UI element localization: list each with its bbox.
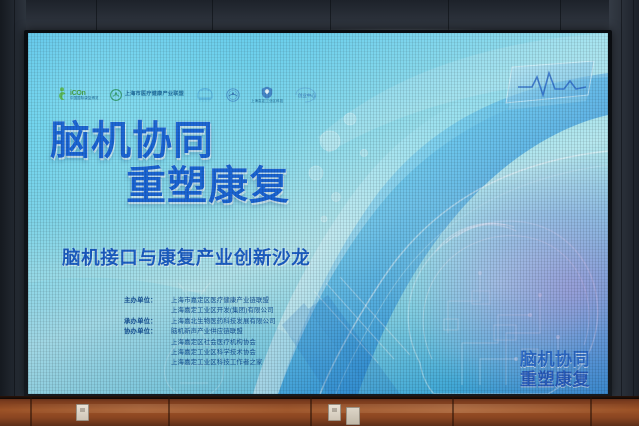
credit-value: 上海嘉定区社会医疗机构协会 <box>171 338 263 348</box>
wood-paneling <box>0 396 639 426</box>
right-wall <box>609 0 639 402</box>
watermark-line-1: 脑机协同 <box>520 351 590 368</box>
banner-subtitle: 脑机接口与康复产业创新沙龙 <box>62 244 310 270</box>
organizer-credits: 主办单位： 上海市嘉定区医疗健康产业链联盟 上海嘉定工业区开发(集团)有限公司 … <box>124 296 276 369</box>
brain-head-logo <box>195 87 215 103</box>
logo-item <box>226 88 240 102</box>
logo-text: 上海嘉定工业区科技 <box>251 100 283 104</box>
title-line-1: 脑机协同 <box>50 121 370 161</box>
credit-value: 上海嘉北生物医药科技发展有限公司 <box>171 317 276 327</box>
wall-plate <box>328 404 341 421</box>
logo-item <box>195 87 215 103</box>
banner-title: 脑机协同 重塑康复 <box>50 121 370 206</box>
wall-plate <box>346 407 360 425</box>
credit-value: 脑机新声产业供应链联盟 <box>171 327 263 337</box>
watermark-line-2: 重塑康复 <box>520 371 590 388</box>
credit-key: 协办单位： <box>124 327 166 369</box>
innovation-center-logo: 创业中心 <box>294 87 318 103</box>
credit-value: 上海嘉定工业区科技工作者之家 <box>171 358 263 368</box>
shanghai-industry-alliance-logo <box>110 89 122 101</box>
title-line-2: 重塑康复 <box>50 166 370 206</box>
logo-item: iCOn 中国国际康复博览 <box>58 87 99 103</box>
credit-key: 主办单位： <box>124 296 166 317</box>
credit-value: 上海嘉定工业区开发(集团)有限公司 <box>171 306 274 316</box>
circular-emblem-logo <box>226 88 240 102</box>
partner-logos-row: iCOn 中国国际康复博览 上海市医疗健康产业联盟 <box>58 86 318 104</box>
credit-row: 承办单位： 上海嘉北生物医药科技发展有限公司 <box>124 317 276 327</box>
logo-subtext: 中国国际康复博览 <box>70 97 99 101</box>
logo-item: 上海市医疗健康产业联盟 <box>110 89 184 101</box>
credit-row: 主办单位： 上海市嘉定区医疗健康产业链联盟 上海嘉定工业区开发(集团)有限公司 <box>124 296 276 317</box>
logo-text: 上海市医疗健康产业联盟 <box>125 92 184 98</box>
logo-item: 创业中心 <box>294 87 318 103</box>
credit-value: 上海市嘉定区医疗健康产业链联盟 <box>171 296 274 306</box>
corner-watermark: 脑机协同 重塑康复 <box>520 351 590 388</box>
credit-key: 承办单位： <box>124 317 166 327</box>
conference-room-scene: iCOn 中国国际康复博览 上海市医疗健康产业联盟 <box>0 0 639 426</box>
logo-item: 上海嘉定工业区科技 <box>251 86 283 104</box>
icon-green-logo <box>58 87 67 103</box>
led-video-wall[interactable]: iCOn 中国国际康复博览 上海市医疗健康产业联盟 <box>28 33 608 394</box>
left-wall <box>0 0 26 400</box>
wall-plate <box>76 404 89 421</box>
ecg-waveform-panel <box>502 61 598 113</box>
credit-value: 上海嘉定工业区科学技术协会 <box>171 348 263 358</box>
svg-text:创业中心: 创业中心 <box>298 92 316 99</box>
credit-row: 协办单位： 脑机新声产业供应链联盟 上海嘉定区社会医疗机构协会 上海嘉定工业区科… <box>124 327 276 369</box>
shield-emblem-logo <box>261 86 273 99</box>
